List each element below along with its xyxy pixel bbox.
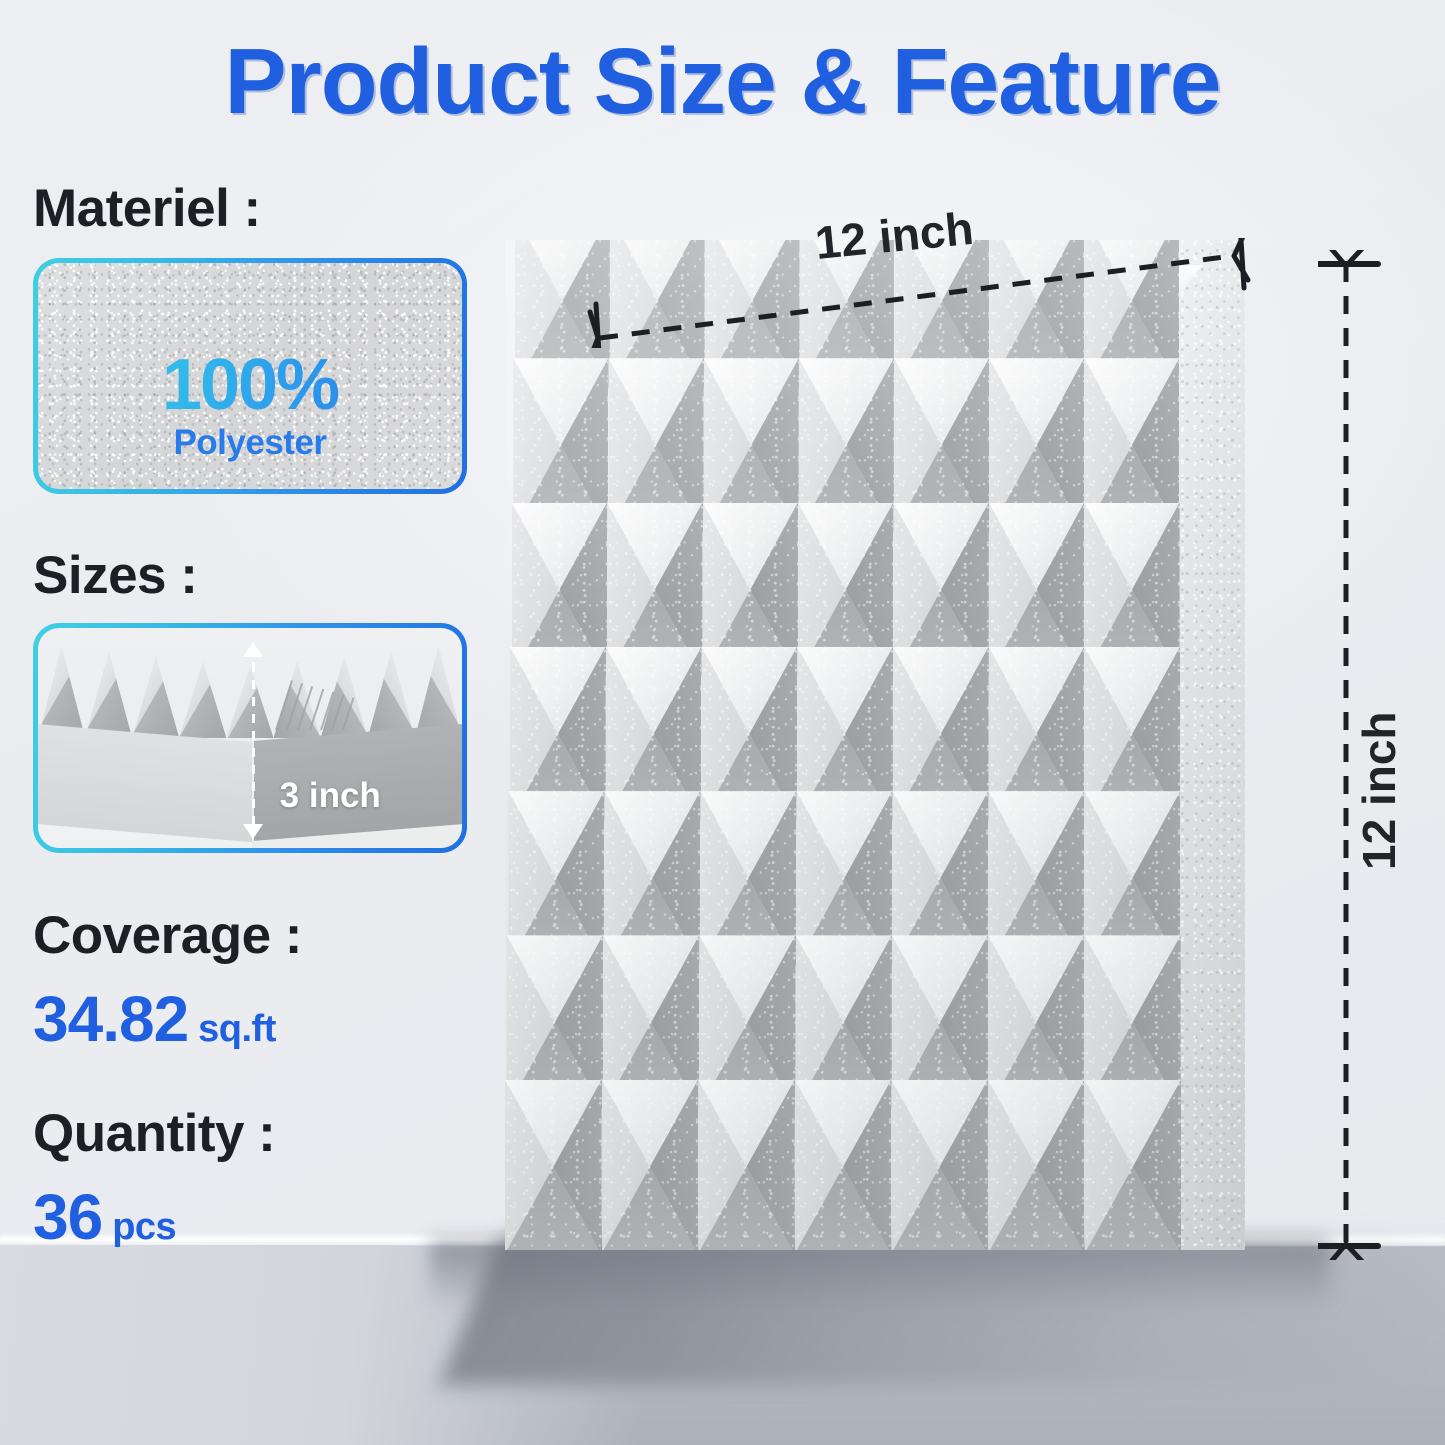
acoustic-foam-panel (505, 240, 1245, 1250)
material-label: Materiel : (33, 178, 261, 239)
pyramid-cell (698, 1080, 795, 1250)
infographic-canvas: Product Size & Feature 12 inch 12 inch (0, 0, 1445, 1445)
thickness-arrow-down-icon (243, 824, 263, 839)
height-dimension: 12 inch (1318, 250, 1388, 1260)
foam-cross-section-illustration: 3 inch (38, 628, 462, 848)
pyramid-cell (1084, 1080, 1181, 1250)
product-cast-shadow (440, 1235, 1445, 1385)
thickness-arrow-up-icon (243, 642, 263, 657)
pyramid-cell (602, 1080, 699, 1250)
foam-peak (132, 656, 179, 738)
material-fiber: Polyester (38, 423, 462, 463)
quantity-label: Quantity : (33, 1103, 275, 1164)
thickness-label: 3 inch (280, 776, 381, 816)
foam-peak (368, 651, 415, 738)
sizes-card: 3 inch (33, 623, 467, 853)
coverage-value: 34.82 (33, 983, 188, 1055)
pyramid-cell (795, 1080, 892, 1250)
pyramid-row (505, 1080, 1181, 1250)
quantity-value: 36 (33, 1181, 102, 1253)
coverage-label: Coverage : (33, 905, 302, 966)
sizes-card-inner: 3 inch (38, 628, 462, 848)
pyramid-cell (891, 1080, 988, 1250)
quantity-value-row: 36pcs (33, 1180, 176, 1254)
panel-pyramid-grid (505, 240, 1181, 1250)
coverage-value-row: 34.82sq.ft (33, 982, 276, 1056)
height-dimension-label: 12 inch (1352, 711, 1406, 870)
thickness-dimension-line (252, 646, 255, 834)
foam-peak (226, 666, 273, 738)
coverage-unit: sq.ft (198, 1008, 276, 1050)
foam-peak (179, 661, 226, 738)
pyramid-cell (988, 1080, 1085, 1250)
material-card: 100% Polyester (33, 258, 467, 494)
sizes-label: Sizes : (33, 545, 197, 606)
quantity-unit: pcs (112, 1206, 176, 1248)
material-percent: 100% (38, 349, 462, 421)
width-dimension: 12 inch (586, 238, 1258, 348)
material-card-inner: 100% Polyester (38, 263, 462, 489)
page-title: Product Size & Feature (0, 28, 1445, 135)
pyramid-cell (505, 1080, 602, 1250)
foam-peak (85, 651, 132, 738)
